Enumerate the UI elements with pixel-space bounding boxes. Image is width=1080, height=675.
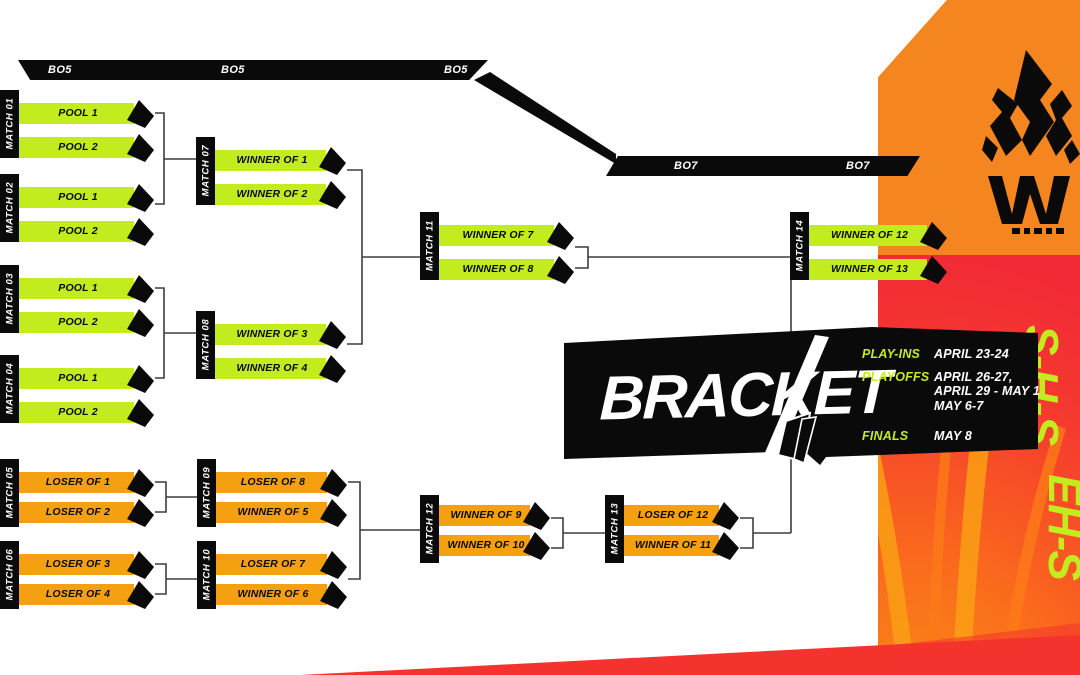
match-block-11[interactable]: MATCH 11 WINNER OF 7 WINNER OF 8: [420, 212, 575, 280]
match-block-09[interactable]: MATCH 09 LOSER OF 8 WINNER OF 5: [197, 459, 348, 527]
gem-icon: [123, 307, 155, 339]
match-13-tag: MATCH 13: [605, 495, 624, 563]
match-block-05[interactable]: MATCH 05 LOSER OF 1 LOSER OF 2: [0, 459, 155, 527]
match-10-slot-2[interactable]: WINNER OF 6: [197, 584, 348, 605]
match-09-tag: MATCH 09: [197, 459, 216, 527]
match-11-slot-2[interactable]: WINNER OF 8: [420, 259, 575, 280]
match-04-tag: MATCH 04: [0, 355, 19, 423]
gem-icon: [123, 397, 155, 429]
match-02-slot-2[interactable]: POOL 2: [0, 221, 155, 242]
gem-icon: [708, 530, 740, 562]
banner-bo5-label-3: BO5: [444, 60, 468, 80]
match-01-tag: MATCH 01: [0, 90, 19, 158]
gem-icon: [708, 500, 740, 532]
match-10-tag: MATCH 10: [197, 541, 216, 609]
title-word: BRACKET: [599, 361, 890, 430]
match-block-10[interactable]: MATCH 10 LOSER OF 7 WINNER OF 6: [197, 541, 348, 609]
gem-icon: [123, 579, 155, 611]
banner-bo7: BO7 BO7: [606, 156, 920, 176]
schedule-label-play-ins: PLAY-INS: [862, 347, 920, 361]
match-02-tag: MATCH 02: [0, 174, 19, 242]
gem-icon: [543, 220, 575, 252]
schedule-row-play-ins: PLAY-INS APRIL 23-24: [862, 347, 1034, 369]
gem-icon: [916, 220, 948, 252]
bracket-title-banner: BRACKET PLAY-INS APRIL 23-24 PLAYOFFS AP…: [564, 327, 1038, 465]
gem-icon: [123, 98, 155, 130]
gem-icon: [123, 497, 155, 529]
match-block-14[interactable]: MATCH 14 WINNER OF 12 WINNER OF 13: [790, 212, 948, 280]
match-06-tag: MATCH 06: [0, 541, 19, 609]
schedule-value-playoffs-3: MAY 6-7: [934, 399, 1040, 413]
match-03-slot-1[interactable]: POOL 1: [0, 278, 155, 299]
match-13-slot-1[interactable]: LOSER OF 12: [605, 505, 740, 526]
match-block-03[interactable]: MATCH 03 POOL 1 POOL 2: [0, 265, 155, 333]
match-13-slot-2[interactable]: WINNER OF 11: [605, 535, 740, 556]
match-14-slot-1[interactable]: WINNER OF 12: [790, 225, 948, 246]
match-12-tag: MATCH 12: [420, 495, 439, 563]
gem-icon: [316, 579, 348, 611]
match-01-slot-2[interactable]: POOL 2: [0, 137, 155, 158]
match-block-06[interactable]: MATCH 06 LOSER OF 3 LOSER OF 4: [0, 541, 155, 609]
match-block-04[interactable]: MATCH 04 POOL 1 POOL 2: [0, 355, 155, 423]
match-12-slot-1[interactable]: WINNER OF 9: [420, 505, 551, 526]
match-10-slot-1[interactable]: LOSER OF 7: [197, 554, 348, 575]
gem-icon: [123, 216, 155, 248]
match-09-slot-2[interactable]: WINNER OF 5: [197, 502, 348, 523]
banner-bo7-label-1: BO7: [674, 156, 698, 176]
gem-icon: [123, 467, 155, 499]
match-03-slot-2[interactable]: POOL 2: [0, 312, 155, 333]
gem-icon: [315, 353, 347, 385]
schedule-row-finals: FINALS MAY 8: [862, 429, 1034, 451]
schedule-value-play-ins: APRIL 23-24: [934, 347, 1009, 361]
gem-icon: [543, 254, 575, 286]
gem-icon: [123, 549, 155, 581]
banner-bo5: BO5 BO5 BO5: [18, 60, 488, 80]
banner-bo7-label-2: BO7: [846, 156, 870, 176]
gem-icon: [123, 182, 155, 214]
match-block-08[interactable]: MATCH 08 WINNER OF 3 WINNER OF 4: [196, 311, 347, 379]
match-08-slot-2[interactable]: WINNER OF 4: [196, 358, 347, 379]
match-block-13[interactable]: MATCH 13 LOSER OF 12 WINNER OF 11: [605, 495, 740, 563]
match-07-tag: MATCH 07: [196, 137, 215, 205]
match-14-tag: MATCH 14: [790, 212, 809, 280]
match-04-slot-1[interactable]: POOL 1: [0, 368, 155, 389]
match-05-tag: MATCH 05: [0, 459, 19, 527]
match-05-slot-2[interactable]: LOSER OF 2: [0, 502, 155, 523]
schedule-label-playoffs: PLAYOFFS: [862, 370, 929, 384]
match-08-tag: MATCH 08: [196, 311, 215, 379]
match-11-slot-1[interactable]: WINNER OF 7: [420, 225, 575, 246]
gem-icon: [123, 132, 155, 164]
match-block-01[interactable]: MATCH 01 POOL 1 POOL 2: [0, 90, 155, 158]
gem-icon: [315, 319, 347, 351]
match-04-slot-2[interactable]: POOL 2: [0, 402, 155, 423]
match-01-slot-1[interactable]: POOL 1: [0, 103, 155, 124]
match-06-slot-1[interactable]: LOSER OF 3: [0, 554, 155, 575]
match-06-slot-2[interactable]: LOSER OF 4: [0, 584, 155, 605]
match-03-tag: MATCH 03: [0, 265, 19, 333]
gem-icon: [316, 497, 348, 529]
gem-icon: [316, 549, 348, 581]
banner-bo5-label-2: BO5: [221, 60, 245, 80]
gem-icon: [315, 179, 347, 211]
match-11-tag: MATCH 11: [420, 212, 439, 280]
gem-icon: [916, 254, 948, 286]
gem-icon: [519, 530, 551, 562]
gem-icon: [123, 273, 155, 305]
match-07-slot-2[interactable]: WINNER OF 2: [196, 184, 347, 205]
match-12-slot-2[interactable]: WINNER OF 10: [420, 535, 551, 556]
banner-bo5-label-1: BO5: [48, 60, 72, 80]
gem-icon: [123, 363, 155, 395]
gem-icon: [316, 467, 348, 499]
match-08-slot-1[interactable]: WINNER OF 3: [196, 324, 347, 345]
match-07-slot-1[interactable]: WINNER OF 1: [196, 150, 347, 171]
bracket-poster: S-H-S EH-S: [0, 0, 1080, 675]
match-14-slot-2[interactable]: WINNER OF 13: [790, 259, 948, 280]
schedule-list: PLAY-INS APRIL 23-24 PLAYOFFS APRIL 26-2…: [862, 347, 1034, 452]
gem-icon: [519, 500, 551, 532]
gem-icon: [315, 145, 347, 177]
match-block-12[interactable]: MATCH 12 WINNER OF 9 WINNER OF 10: [420, 495, 551, 563]
match-block-07[interactable]: MATCH 07 WINNER OF 1 WINNER OF 2: [196, 137, 347, 205]
match-02-slot-1[interactable]: POOL 1: [0, 187, 155, 208]
match-05-slot-1[interactable]: LOSER OF 1: [0, 472, 155, 493]
schedule-value-playoffs-1: APRIL 26-27,: [934, 370, 1040, 384]
schedule-label-finals: FINALS: [862, 429, 908, 443]
match-block-02[interactable]: MATCH 02 POOL 1 POOL 2: [0, 174, 155, 242]
match-09-slot-1[interactable]: LOSER OF 8: [197, 472, 348, 493]
schedule-value-finals: MAY 8: [934, 429, 972, 443]
schedule-row-playoffs: PLAYOFFS APRIL 26-27, APRIL 29 - MAY 1 M…: [862, 370, 1034, 428]
schedule-value-playoffs-2: APRIL 29 - MAY 1: [934, 384, 1040, 398]
